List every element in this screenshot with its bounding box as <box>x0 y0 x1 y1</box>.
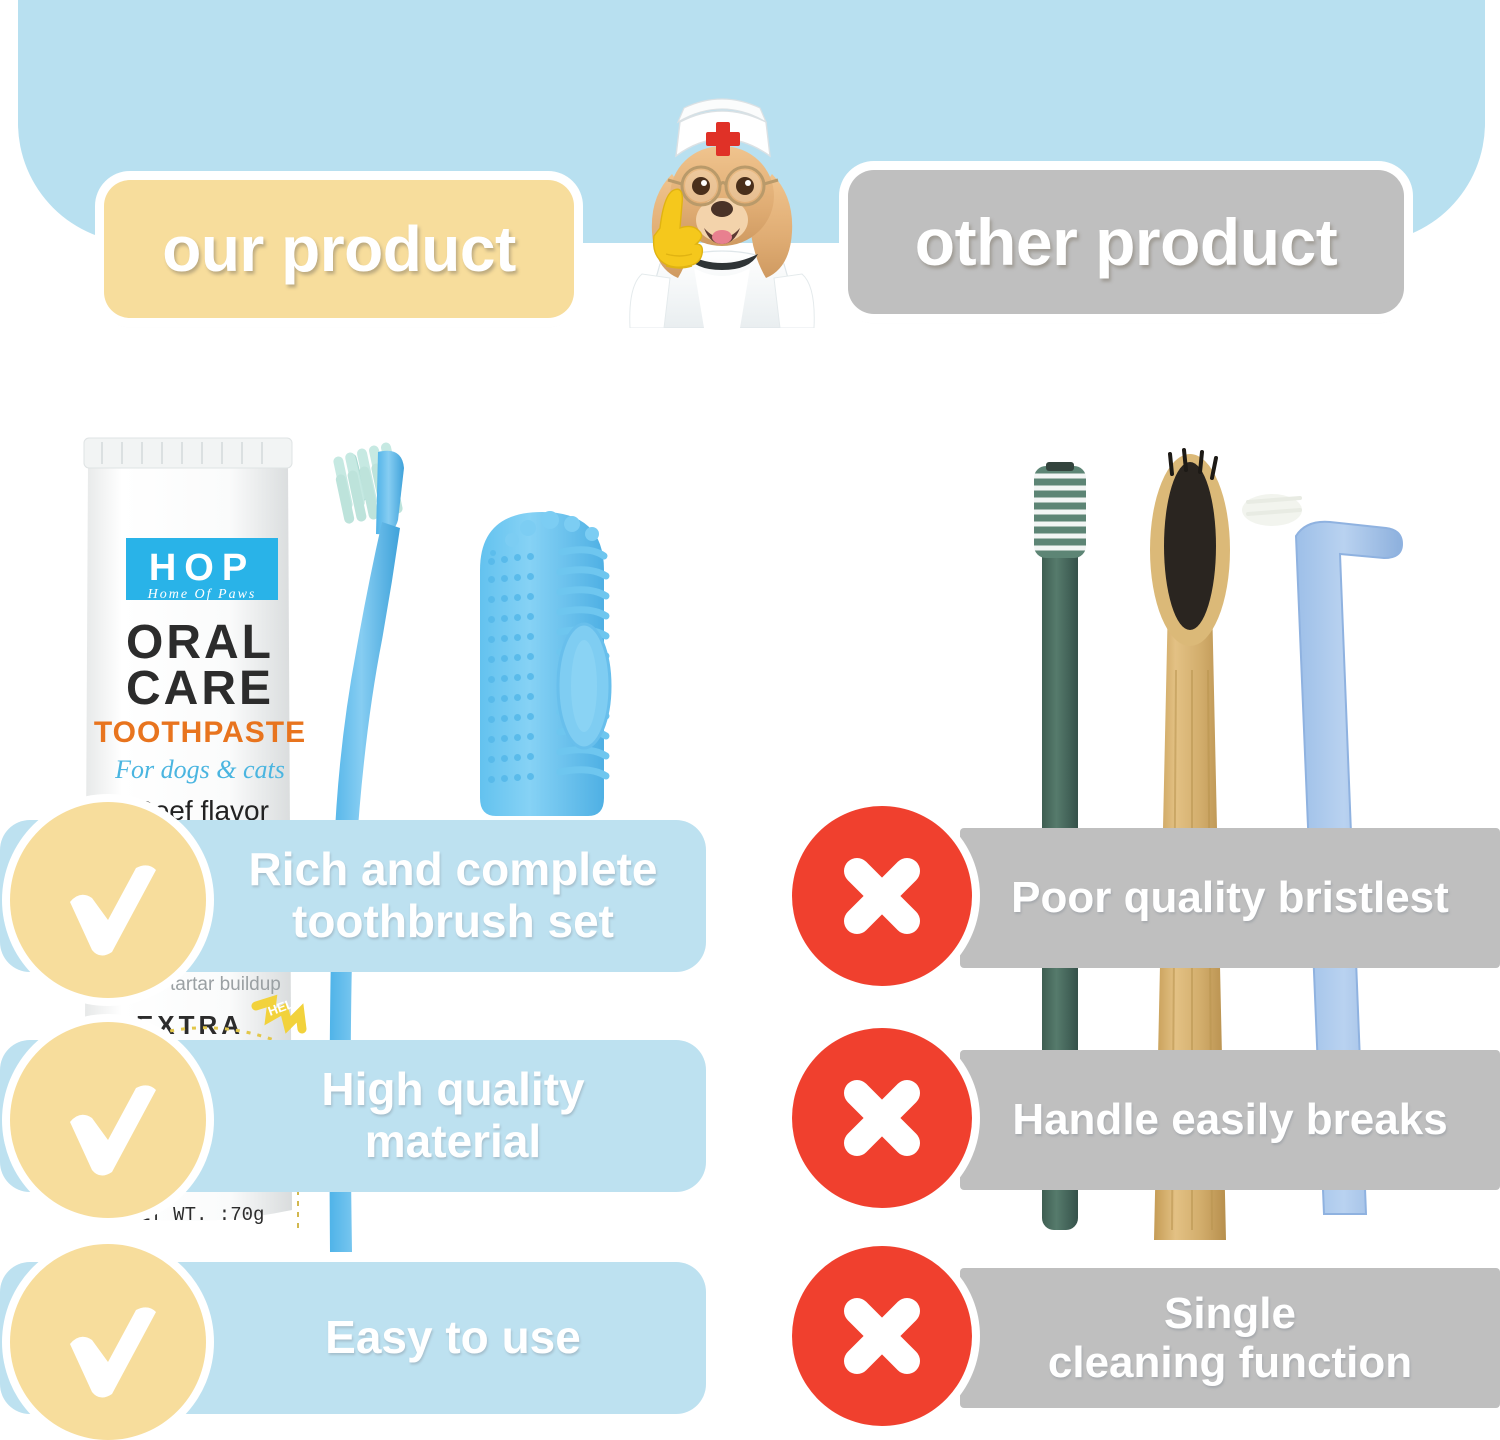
feature-pill-bad-2: Handle easily breaks <box>960 1050 1500 1190</box>
cross-badge-3 <box>792 1246 972 1426</box>
feature-pill-bad-3: Single cleaning function <box>960 1268 1500 1408</box>
svg-text:Home Of Paws: Home Of Paws <box>147 587 257 602</box>
check-badge-1 <box>10 802 206 998</box>
cross-icon <box>829 843 935 949</box>
our-product-title-pill: our product <box>104 180 574 318</box>
feature-text-bad-3: Single cleaning function <box>1048 1289 1412 1388</box>
check-icon <box>48 840 168 960</box>
feature-text-good-2: High quality material <box>321 1064 584 1167</box>
check-badge-3 <box>10 1244 206 1440</box>
feature-text-good-3: Easy to use <box>325 1312 581 1364</box>
cross-icon <box>829 1065 935 1171</box>
check-badge-2 <box>10 1022 206 1218</box>
feature-text-bad-2: Handle easily breaks <box>1012 1095 1447 1144</box>
feature-text-good-1: Rich and complete toothbrush set <box>249 844 658 947</box>
other-product-label: other product <box>915 204 1337 280</box>
check-icon <box>48 1060 168 1180</box>
cross-badge-2 <box>792 1028 972 1208</box>
svg-text:For dogs & cats: For dogs & cats <box>114 755 285 784</box>
svg-text:CARE: CARE <box>126 662 274 715</box>
other-product-title-pill: other product <box>848 170 1404 314</box>
feature-pill-bad-1: Poor quality bristlest <box>960 828 1500 968</box>
check-icon <box>48 1282 168 1402</box>
nurse-cap-icon <box>676 99 770 156</box>
cross-icon <box>829 1283 935 1389</box>
feature-text-bad-1: Poor quality bristlest <box>1011 873 1449 922</box>
svg-text:TOOTHPASTE: TOOTHPASTE <box>94 716 306 749</box>
nurse-dog-mascot <box>598 78 846 328</box>
cross-badge-1 <box>792 806 972 986</box>
silicone-finger-brush <box>480 511 610 816</box>
svg-text:HOP: HOP <box>149 547 255 589</box>
our-product-label: our product <box>162 212 516 286</box>
